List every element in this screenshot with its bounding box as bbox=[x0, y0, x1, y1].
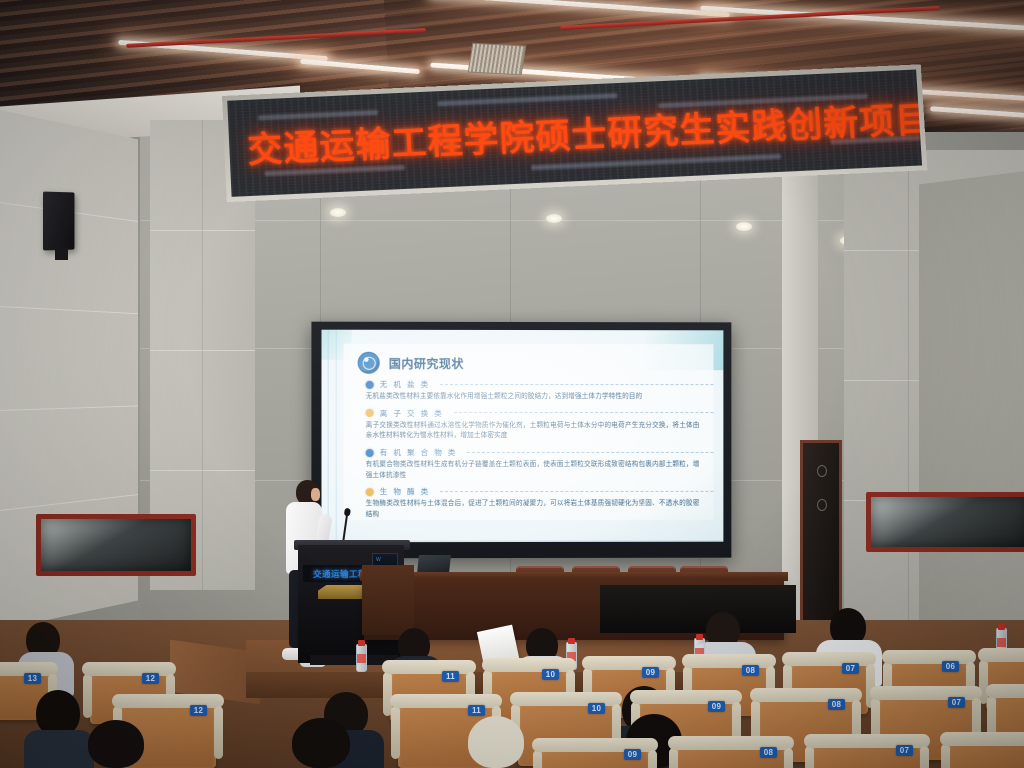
seat-headrest bbox=[978, 648, 1024, 662]
slide-body-text: 有机聚合物类改性材料生成有机分子链覆盖在土颗粒表面，使表面土颗粒交联形成致密结构… bbox=[366, 460, 700, 481]
seat-headrest bbox=[940, 732, 1024, 746]
slide-bullet-heading: 无 机 盐 类 bbox=[366, 379, 714, 390]
seat-number-badge: 09 bbox=[708, 701, 725, 712]
seat-number-badge: 11 bbox=[468, 705, 485, 716]
seat-number-badge: 08 bbox=[760, 747, 777, 758]
auditorium-seat[interactable]: 06 bbox=[948, 738, 1024, 768]
bottle-cap bbox=[998, 624, 1005, 630]
presenter-face bbox=[311, 488, 320, 501]
bullet-label: 离 子 交 换 类 bbox=[380, 408, 444, 419]
judge-laptop bbox=[417, 555, 451, 573]
seat-number-badge: 10 bbox=[542, 669, 559, 680]
bullet-dot-icon bbox=[366, 409, 374, 417]
seat-number-badge: 09 bbox=[624, 749, 641, 760]
right-display-case bbox=[866, 492, 1024, 552]
slide-body-text: 生物酶类改性材料与土体混合后，促进了土颗粒间的凝聚力，可以将岩土体基质强韧硬化为… bbox=[366, 499, 700, 521]
slide-bullet-heading: 离 子 交 换 类 bbox=[366, 408, 714, 419]
slide-content-card: 国内研究现状 无 机 盐 类 无机盐类改性材料主要依靠水化作用增强土颗粒之间的胶… bbox=[344, 344, 714, 520]
auditorium-seat[interactable]: 08 bbox=[676, 742, 786, 768]
wall-speaker bbox=[43, 192, 75, 251]
bullet-rule bbox=[440, 383, 713, 385]
seat-number-badge: 12 bbox=[142, 673, 159, 684]
seat-headrest bbox=[510, 692, 622, 706]
slide-header: 国内研究现状 bbox=[344, 344, 714, 374]
seat-headrest bbox=[382, 660, 476, 674]
bullet-dot-icon bbox=[366, 488, 374, 496]
recessed-downlight bbox=[546, 214, 562, 223]
left-display-case bbox=[36, 514, 196, 576]
bottle-cap bbox=[358, 640, 365, 646]
seat-headrest bbox=[782, 652, 876, 666]
seat-number-badge: 07 bbox=[842, 663, 859, 674]
bullet-rule bbox=[454, 412, 714, 414]
projection-screen: 国内研究现状 无 机 盐 类 无机盐类改性材料主要依靠水化作用增强土颗粒之间的胶… bbox=[321, 330, 723, 543]
seat-number-badge: 08 bbox=[828, 699, 845, 710]
projection-screen-bezel: 国内研究现状 无 机 盐 类 无机盐类改性材料主要依靠水化作用增强土颗粒之间的胶… bbox=[311, 322, 731, 559]
recessed-downlight bbox=[330, 208, 346, 217]
seat-number-badge: 13 bbox=[24, 673, 41, 684]
slide-body-text: 离子交换类改性材料通过水溶性化学物质作为催化剂，土颗粒电荷与土体水分中的电荷产生… bbox=[366, 421, 700, 442]
seat-headrest bbox=[112, 694, 224, 708]
person-head bbox=[468, 716, 524, 768]
person-head bbox=[292, 718, 350, 768]
person-head bbox=[88, 720, 144, 768]
auditorium-seat[interactable]: 09 bbox=[540, 744, 650, 768]
seat-headrest bbox=[750, 688, 862, 702]
judge-monitor-logo: W bbox=[376, 557, 381, 563]
seat-headrest bbox=[82, 662, 176, 676]
ceiling-air-vent bbox=[468, 43, 527, 76]
person-torso bbox=[24, 730, 94, 768]
judges-table-end bbox=[362, 565, 414, 635]
water-bottle bbox=[356, 644, 367, 672]
slide-title: 国内研究现状 bbox=[389, 354, 464, 371]
slide-bullet-heading: 有 机 聚 合 物 类 bbox=[366, 447, 714, 458]
seat-number-badge: 08 bbox=[742, 665, 759, 676]
seat-number-badge: 09 bbox=[642, 667, 659, 678]
bottle-cap bbox=[568, 638, 575, 644]
auditorium-seat[interactable]: 07 bbox=[812, 740, 922, 768]
seat-headrest bbox=[870, 686, 982, 700]
right-wall-near-panel bbox=[919, 170, 1024, 650]
bullet-label: 生 物 酶 类 bbox=[380, 486, 430, 497]
speaker-bracket-icon bbox=[55, 248, 68, 260]
slide-body-text: 无机盐类改性材料主要依靠水化作用增强土颗粒之间的胶结力，达到增强土体力学特性的目… bbox=[366, 392, 700, 403]
seat-number-badge: 11 bbox=[442, 671, 459, 682]
seat-number-badge: 07 bbox=[896, 745, 913, 756]
lecture-hall-scene: 交通运输工程学院硕士研究生实践创新项目申报答辩评审会 国内研究现状 无 机 盐 … bbox=[0, 0, 1024, 768]
seat-headrest bbox=[986, 684, 1024, 698]
seat-number-badge: 07 bbox=[948, 697, 965, 708]
bullet-dot-icon bbox=[366, 449, 374, 457]
bottle-label bbox=[997, 638, 1006, 647]
seat-headrest bbox=[630, 690, 742, 704]
bullet-label: 有 机 聚 合 物 类 bbox=[380, 447, 458, 458]
seat-headrest bbox=[682, 654, 776, 668]
university-seal-logo-icon bbox=[358, 352, 380, 374]
bullet-rule bbox=[467, 451, 713, 453]
bullet-dot-icon bbox=[366, 380, 374, 388]
slide-bullet-heading: 生 物 酶 类 bbox=[366, 486, 714, 497]
seat-headrest bbox=[390, 694, 502, 708]
bottle-label bbox=[357, 654, 366, 663]
seat-headrest bbox=[882, 650, 976, 664]
seat-headrest bbox=[482, 658, 576, 672]
bottle-cap bbox=[696, 634, 703, 640]
bullet-label: 无 机 盐 类 bbox=[380, 379, 430, 390]
rear-dark-panel bbox=[600, 585, 796, 633]
seat-number-badge: 12 bbox=[190, 705, 207, 716]
seat-number-badge: 06 bbox=[942, 661, 959, 672]
seat-headrest bbox=[582, 656, 676, 670]
seat-number-badge: 10 bbox=[588, 703, 605, 714]
recessed-downlight bbox=[736, 222, 752, 231]
bullet-rule bbox=[440, 491, 713, 493]
